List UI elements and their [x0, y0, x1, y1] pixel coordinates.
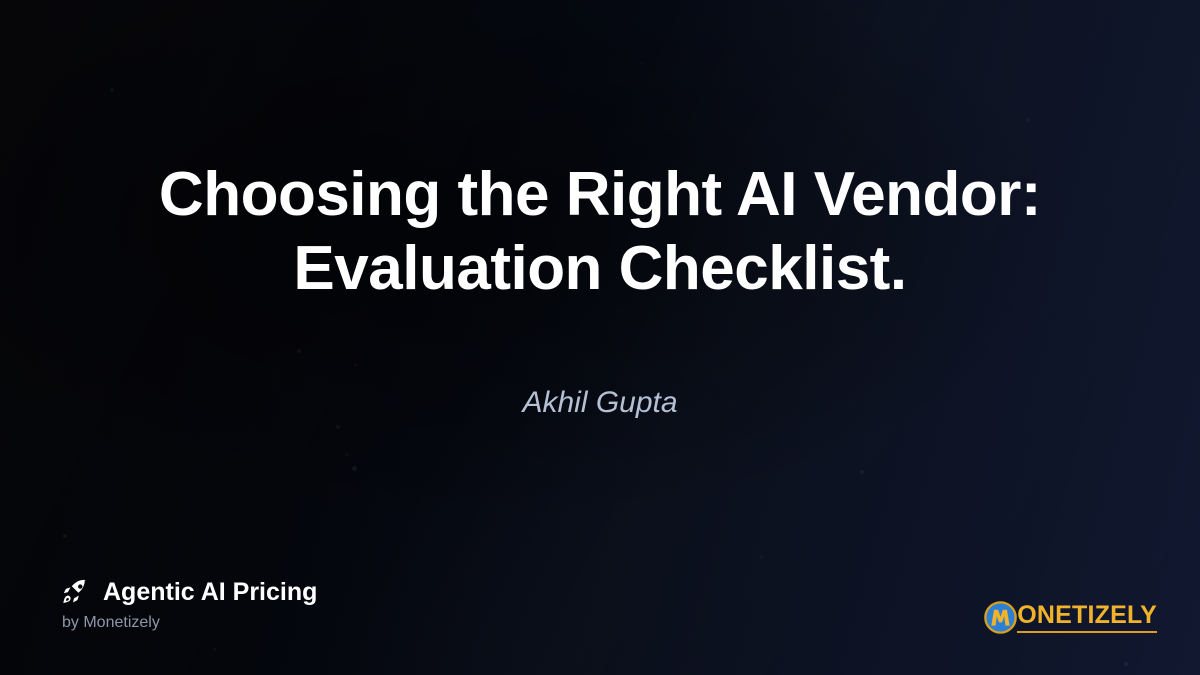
monetizely-logo: ONETIZELY [984, 601, 1157, 634]
vignette-overlay [0, 0, 1200, 675]
slide-title-block: Choosing the Right AI Vendor:Evaluation … [0, 158, 1200, 306]
footer-brand-row: Agentic AI Pricing [60, 577, 317, 607]
slide-subtitle-block: Akhil Gupta [0, 385, 1200, 421]
starfield-decoration [0, 0, 1200, 675]
brand-byline: by Monetizely [62, 613, 317, 633]
footer-brand: Agentic AI Pricing by Monetizely [60, 577, 317, 633]
monetizely-wordmark-wrap: ONETIZELY [1017, 602, 1157, 633]
page-title: Choosing the Right AI Vendor:Evaluation … [60, 158, 1140, 306]
monetizely-underline [1017, 631, 1157, 633]
title-line-1: Choosing the Right AI Vendor: [159, 160, 1041, 229]
brand-name: Agentic AI Pricing [103, 578, 317, 606]
monetizely-wordmark: ONETIZELY [1017, 601, 1157, 629]
monetizely-m-mark-icon [984, 601, 1015, 634]
slide-canvas: Choosing the Right AI Vendor:Evaluation … [0, 0, 1200, 675]
author-name: Akhil Gupta [0, 385, 1200, 421]
rocket-icon [60, 577, 90, 607]
title-line-2: Evaluation Checklist. [293, 234, 906, 303]
